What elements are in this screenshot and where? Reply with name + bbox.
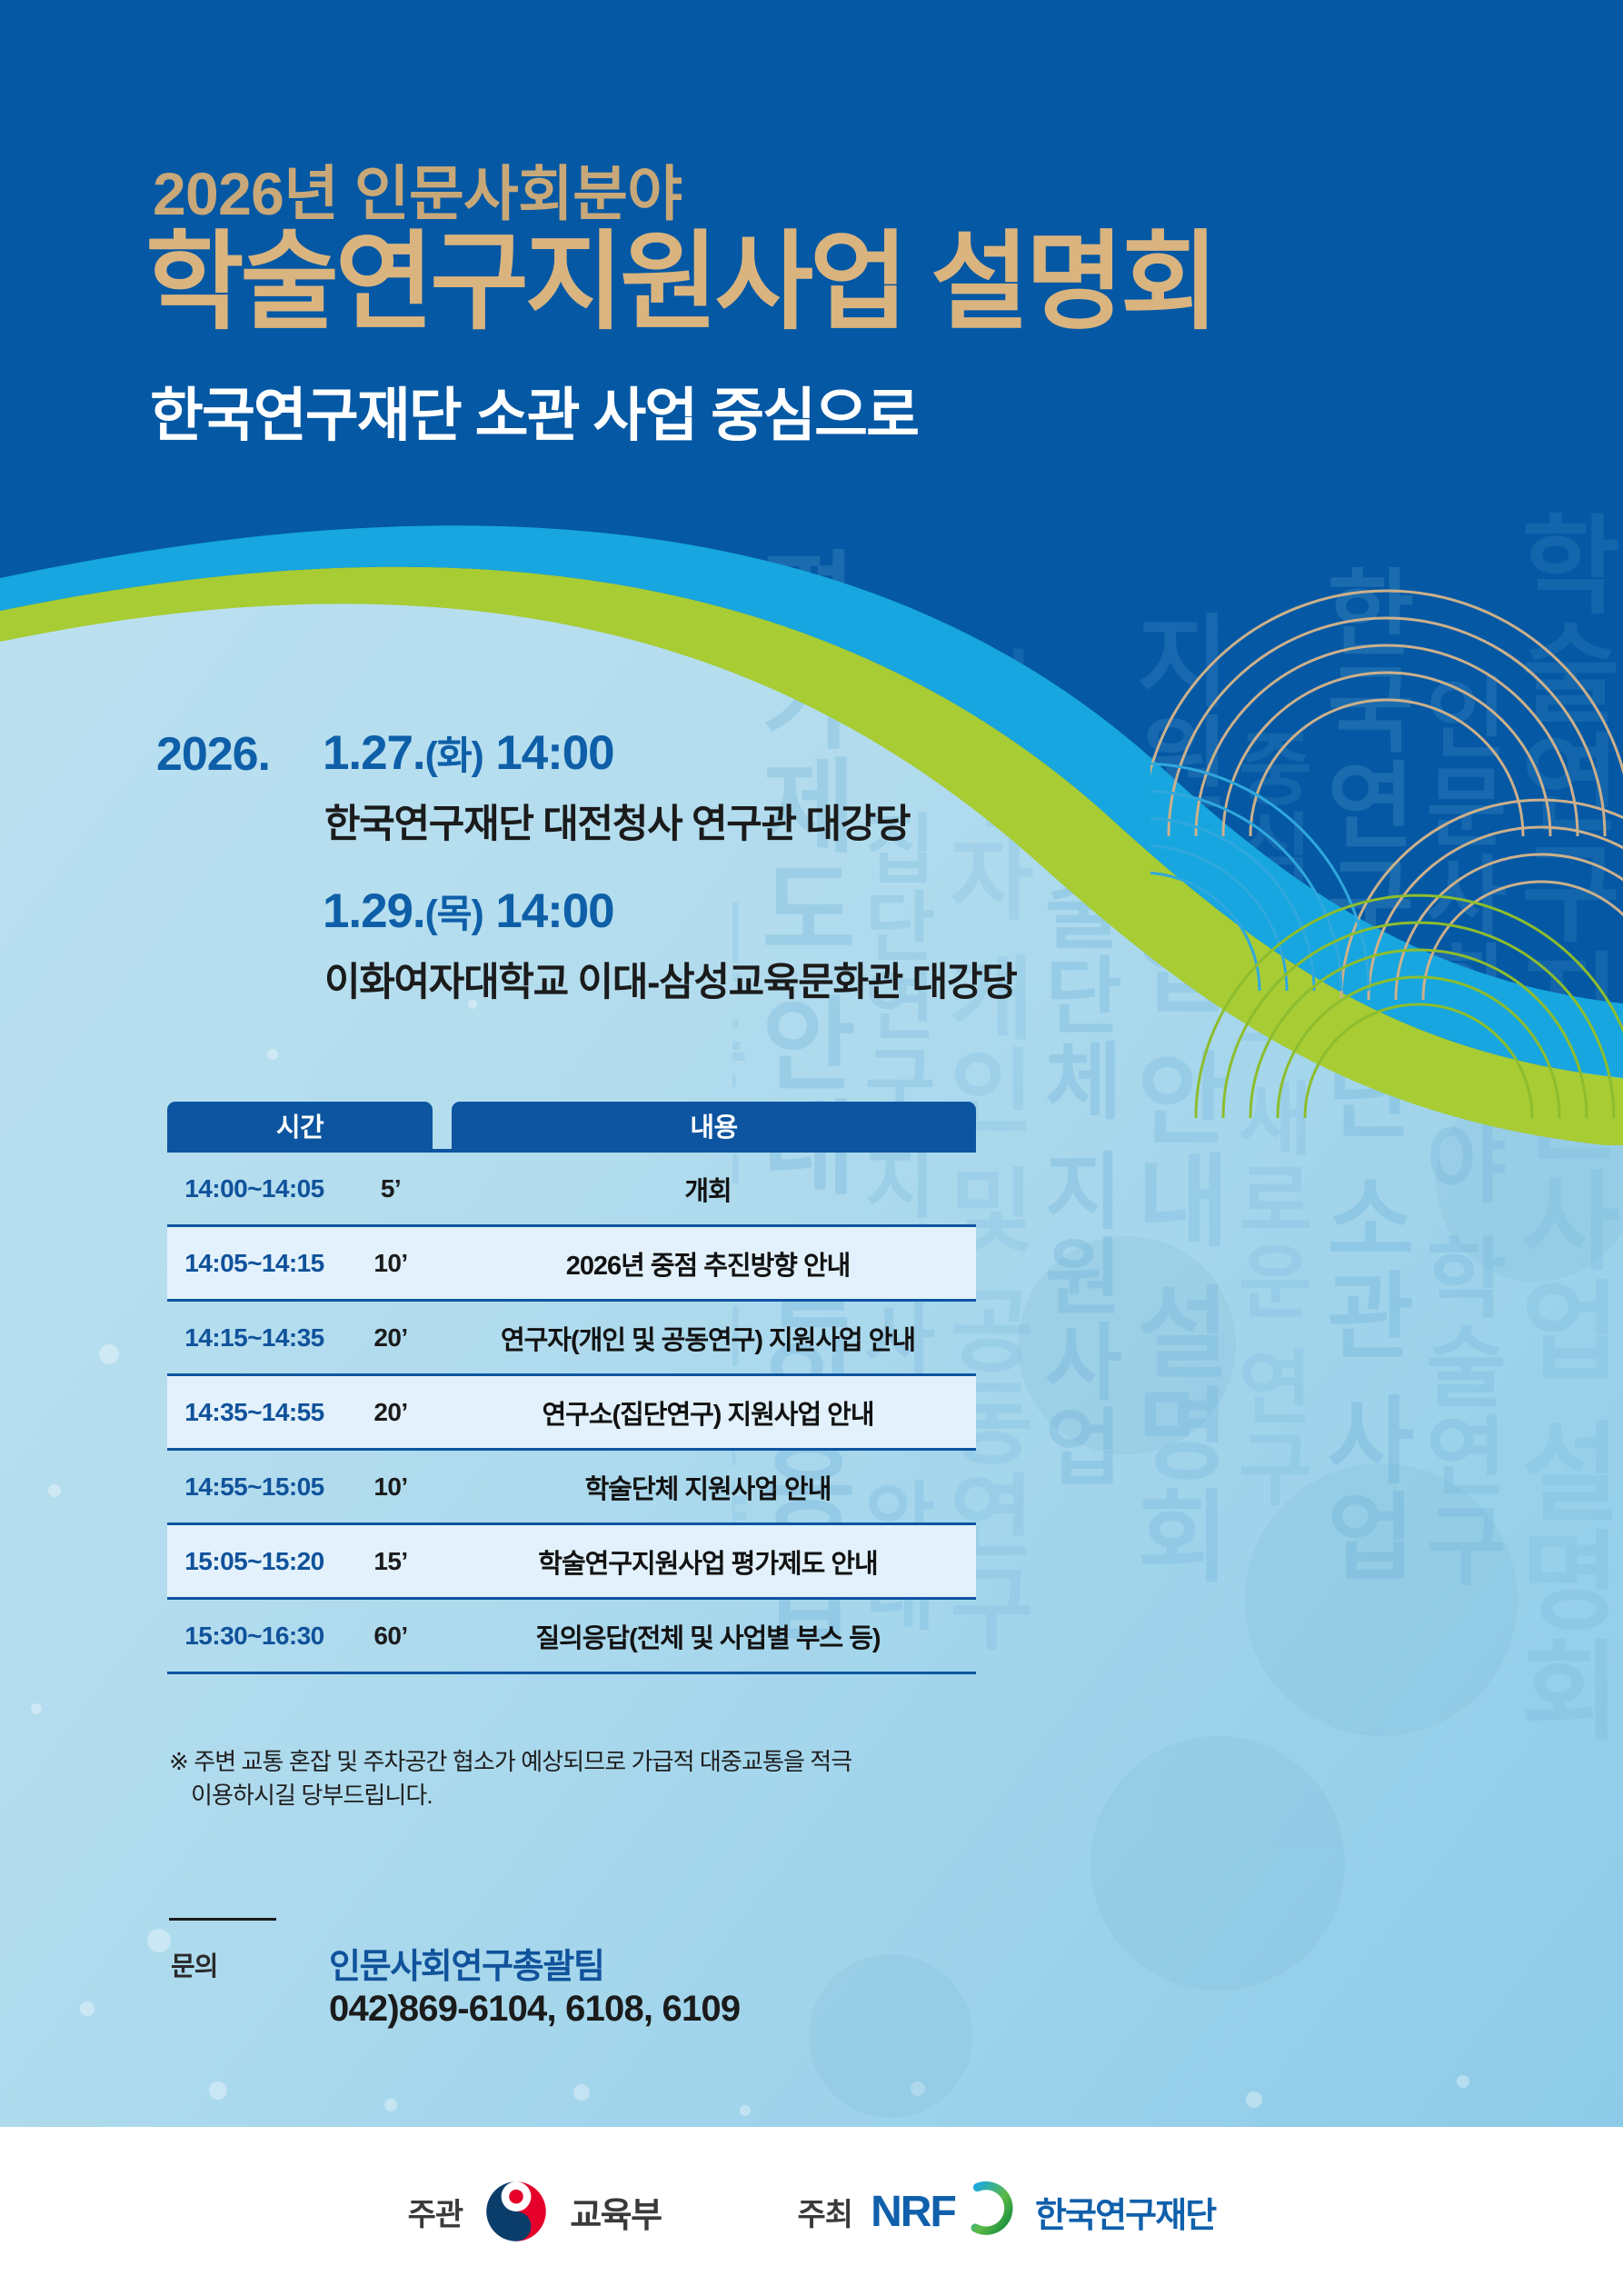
table-row: 14:35~14:5520’연구소(집단연구) 지원사업 안내 (167, 1376, 976, 1448)
cell-duration: 5’ (336, 1174, 445, 1203)
host-logo-group: 주관 교육부 (408, 2176, 662, 2247)
arc-ring-lime (1196, 895, 1623, 1118)
organizer-logo-group: 주최 NRF 한국연구재단 (798, 2186, 1216, 2237)
program-table: 시간 내용 14:00~14:055’개회14:05~14:1510’2026년… (167, 1102, 976, 1674)
cell-time: 15:30~16:30 (173, 1622, 336, 1651)
table-row: 14:05~14:1510’2026년 중점 추진방향 안내 (167, 1227, 976, 1299)
session-2-date: 1.29. (323, 884, 425, 938)
header-kicker: 2026년 인문사회분야 (153, 145, 682, 233)
session-1-venue: 한국연구재단 대전청사 연구관 대강당 (324, 793, 910, 849)
column-header-content: 내용 (452, 1102, 976, 1149)
cell-duration: 15’ (336, 1547, 445, 1576)
organizer-name: 한국연구재단 (1035, 2187, 1215, 2237)
session-2-datetime: 1.29.(목) 14:00 (323, 883, 614, 939)
session-2-venue: 이화여자대학교 이대-삼성교육문화관 대강당 (324, 951, 1016, 1007)
nrf-swirl-icon (961, 2181, 1017, 2237)
contact-block: 문의 인문사회연구총괄팀 042)869-6104, 6108, 6109 (169, 1918, 987, 1939)
cell-duration: 10’ (336, 1249, 445, 1278)
contact-divider (169, 1918, 276, 1921)
header-subtitle: 한국연구재단 소관 사업 중심으로 (150, 386, 918, 444)
cell-time: 14:05~14:15 (173, 1249, 336, 1278)
cell-time: 14:15~14:35 (173, 1323, 336, 1353)
nrf-wordmark: NRF (871, 2187, 955, 2237)
traffic-note: ※ 주변 교통 혼잡 및 주차공간 협소가 예상되므로 가급적 대중교통을 적극… (169, 1745, 987, 1812)
host-name: 교육부 (570, 2187, 661, 2237)
cell-topic: 질의응답(전체 및 사업별 부스 등) (445, 1617, 976, 1655)
cell-topic: 학술단체 지원사업 안내 (445, 1468, 976, 1506)
table-row: 14:55~15:0510’학술단체 지원사업 안내 (167, 1451, 976, 1522)
column-header-time: 시간 (167, 1102, 433, 1149)
cell-topic: 연구소(집단연구) 지원사업 안내 (445, 1393, 976, 1432)
session-year: 2026. (156, 727, 270, 782)
session-1-date: 1.27. (323, 726, 425, 780)
traffic-note-line-2: 이용하시길 당부드립니다. (169, 1779, 987, 1812)
program-table-body: 14:00~14:055’개회14:05~14:1510’2026년 중점 추진… (167, 1153, 976, 1674)
moe-taegeuk-icon (481, 2176, 552, 2247)
cell-duration: 60’ (336, 1622, 445, 1651)
contact-phone: 042)869-6104, 6108, 6109 (329, 1989, 740, 2030)
footer-logos: 주관 교육부 주최 NRF (0, 2127, 1623, 2296)
cell-time: 15:05~15:20 (173, 1547, 336, 1576)
cell-time: 14:55~15:05 (173, 1472, 336, 1502)
arc-rings-decoration (1150, 564, 1623, 1163)
cell-duration: 20’ (336, 1398, 445, 1427)
cell-topic: 2026년 중점 추진방향 안내 (445, 1244, 976, 1283)
cell-topic: 연구자(개인 및 공동연구) 지원사업 안내 (445, 1319, 976, 1357)
cell-topic: 개회 (445, 1170, 976, 1208)
contact-label: 문의 (171, 1945, 218, 1983)
host-label: 주관 (408, 2190, 463, 2234)
cell-time: 14:35~14:55 (173, 1398, 336, 1427)
arc-ring-cyan (1150, 764, 1369, 991)
cell-duration: 20’ (336, 1323, 445, 1353)
session-1-weekday: (화) (425, 734, 483, 777)
session-2-weekday: (목) (425, 893, 483, 935)
table-row: 15:05~15:2015’학술연구지원사업 평가제도 안내 (167, 1525, 976, 1597)
contact-team: 인문사회연구총괄팀 (329, 1938, 604, 1988)
table-row: 15:30~16:3060’질의응답(전체 및 사업별 부스 등) (167, 1600, 976, 1672)
session-2-time: 14:00 (495, 884, 613, 938)
organizer-label: 주최 (798, 2190, 853, 2234)
poster-canvas: 학술연구지원사업 설명회인문사회분야 학술연구한국연구재단 소관 사업중심으로 … (0, 0, 1623, 2296)
table-row-rule (167, 1672, 976, 1674)
arc-ring-tan-right (1341, 800, 1623, 1000)
traffic-note-line-1: ※ 주변 교통 혼잡 및 주차공간 협소가 예상되므로 가급적 대중교통을 적극 (169, 1748, 851, 1775)
cell-time: 14:00~14:05 (173, 1174, 336, 1203)
page-title: 학술연구지원사업 설명회 (145, 229, 1215, 336)
table-row: 14:00~14:055’개회 (167, 1153, 976, 1224)
session-1-time: 14:00 (495, 726, 613, 780)
cell-topic: 학술연구지원사업 평가제도 안내 (445, 1542, 976, 1581)
session-1-datetime: 1.27.(화) 14:00 (323, 725, 614, 781)
program-table-header: 시간 내용 (167, 1102, 976, 1149)
table-row: 14:15~14:3520’연구자(개인 및 공동연구) 지원사업 안내 (167, 1302, 976, 1373)
cell-duration: 10’ (336, 1472, 445, 1502)
